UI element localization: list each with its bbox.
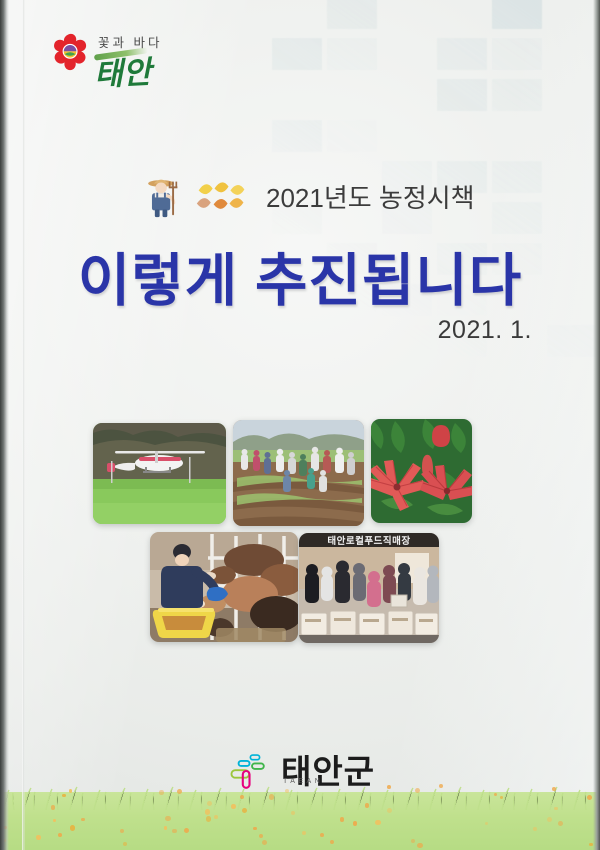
photo-farmers-harvesting-field: [233, 420, 364, 526]
grass-band: [0, 778, 600, 850]
photo-farmer-feeding-cattle: [150, 532, 298, 642]
photo-helicopter-crop-spraying: [93, 423, 226, 524]
svg-text:태안로컬푸드직매장: 태안로컬푸드직매장: [327, 535, 410, 547]
booklet-cover: 꽃과 바다 태안: [0, 0, 600, 850]
scan-edge-right: [593, 0, 600, 850]
taean-flower-icon: [48, 32, 94, 78]
subtitle-text: 2021년도 농정시책: [266, 178, 475, 215]
page-fold-line: [22, 0, 25, 850]
city-logo-brandname: 태안: [93, 47, 152, 95]
farmer-with-pitchfork-icon: [138, 172, 188, 220]
grass-blades: [0, 776, 600, 810]
city-logo: 꽃과 바다 태안: [42, 24, 232, 96]
publication-date: 2021. 1.: [438, 316, 532, 345]
page-title: 이렇게 추진됩니다: [0, 235, 600, 317]
photo-red-lily-flowers: [371, 419, 472, 523]
autumn-leaves-icon: [194, 176, 250, 216]
scan-edge-left: [0, 0, 9, 850]
photo-collage: 태안로컬푸드직매장: [0, 0, 600, 850]
subtitle-row: 2021년도 농정시책: [138, 172, 475, 220]
photo-local-food-direct-market: 태안로컬푸드직매장: [299, 533, 439, 643]
